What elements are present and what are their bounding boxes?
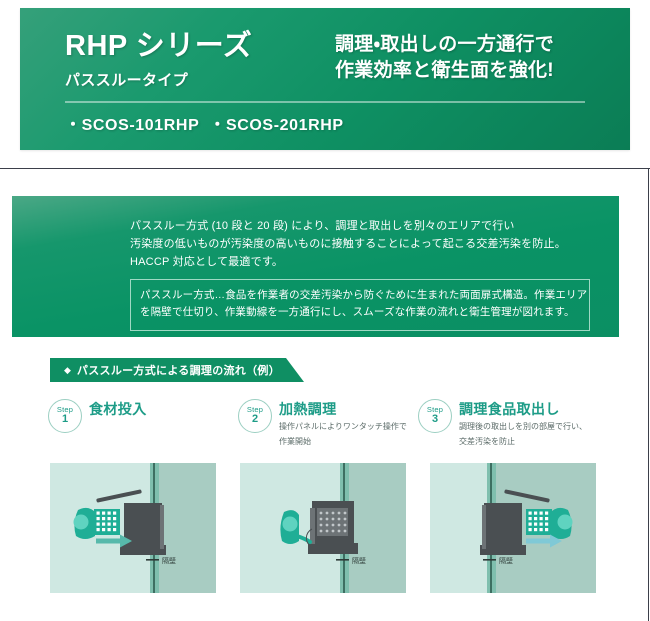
hero-banner: RHP シリーズ パススルータイプ 調理・取出しの一方通行で 作業効率と衛生面を… (20, 8, 630, 150)
step-title-2: 加熱調理 (279, 401, 407, 418)
step-desc-3-line-1: 調理後の取出しを別の部屋で行い、 (459, 421, 587, 433)
catchcopy-line-2: 作業効率と衛生面を強化! (335, 58, 610, 84)
diamond-bullet-icon: ◆ (64, 366, 71, 375)
step-badge-number: 3 (432, 413, 438, 426)
step-desc-2-line-2: 作業開始 (279, 436, 407, 448)
catchcopy-line-1: 調理・取出しの一方通行で (335, 32, 610, 58)
step-badge-word: Step (427, 406, 443, 414)
model-list: ・SCOS-101RHP・SCOS-201RHP (65, 111, 344, 135)
page-subtitle: パススルータイプ (65, 69, 345, 90)
page-title: RHP シリーズ (65, 30, 345, 63)
description-note-line-1: パススルー方式…食品を作業者の交差汚染から防ぐために生まれた両面扉式構造。作業エ… (140, 287, 580, 304)
step-badge-word: Step (247, 406, 263, 414)
wall-label: 隔壁 (352, 556, 366, 565)
illustration-cooking-svg: 隔壁 (240, 463, 406, 593)
section-title: パススルー方式による調理の流れ（例） (77, 362, 280, 378)
step-badge-1: Step 1 (48, 399, 82, 433)
food-rack (526, 509, 552, 535)
step-text-1: 食材投入 (89, 398, 147, 421)
section-ribbon-body: ◆ パススルー方式による調理の流れ（例） (50, 358, 286, 382)
description-line-2: 汚染度の低いものが汚染度の高いものに接触することによって起こる交差汚染を防止。 (130, 236, 602, 254)
food-rack (94, 509, 120, 535)
hero-divider (65, 101, 585, 103)
step-text-2: 加熱調理 操作パネルによりワンタッチ操作で 作業開始 (279, 398, 407, 448)
step-item-3: Step 3 調理食品取出し 調理後の取出しを別の部屋で行い、 交差汚染を防止 (418, 398, 608, 448)
description-text: パススルー方式 (10 段と 20 段) により、調理と取出しを別々のエリアで行… (130, 218, 602, 271)
step-badge-word: Step (57, 406, 73, 414)
step-desc-3-line-2: 交差汚染を防止 (459, 436, 587, 448)
step-title-1: 食材投入 (89, 401, 147, 418)
description-panel: パススルー方式 (10 段と 20 段) により、調理と取出しを別々のエリアで行… (12, 196, 619, 337)
content-frame-right-border (648, 168, 649, 621)
illustration-panel-1: 隔壁 (50, 463, 216, 593)
wall-label: 隔壁 (499, 556, 513, 565)
illustration-panel-2: 隔壁 (240, 463, 406, 593)
illustration-loading-svg: 隔壁 (50, 463, 216, 593)
description-note-box: パススルー方式…食品を作業者の交差汚染から防ぐために生まれた両面扉式構造。作業エ… (130, 279, 590, 331)
content-frame-top-border (0, 168, 650, 169)
description-note-line-2: を隔壁で仕切り、作業動線を一方通行にし、スムーズな作業の流れと衛生管理が図れます… (140, 304, 580, 321)
hero-inner: RHP シリーズ パススルータイプ 調理・取出しの一方通行で 作業効率と衛生面を… (20, 8, 630, 150)
hero-catchcopy: 調理・取出しの一方通行で 作業効率と衛生面を強化! (335, 32, 610, 84)
step-text-3: 調理食品取出し 調理後の取出しを別の部屋で行い、 交差汚染を防止 (459, 398, 587, 448)
illustration-unloading-svg: 隔壁 (430, 463, 596, 593)
hero-left-block: RHP シリーズ パススルータイプ (65, 30, 345, 90)
description-line-3: HACCP 対応として最適です。 (130, 254, 602, 272)
step-item-2: Step 2 加熱調理 操作パネルによりワンタッチ操作で 作業開始 (238, 398, 428, 448)
step-list: Step 1 食材投入 Step 2 加熱調理 操作パネルによりワンタッチ操作で… (48, 398, 628, 454)
step-badge-number: 2 (252, 413, 258, 426)
step-item-1: Step 1 食材投入 (48, 398, 238, 433)
illustration-panel-list: 隔壁 (50, 463, 630, 593)
description-line-1: パススルー方式 (10 段と 20 段) により、調理と取出しを別々のエリアで行… (130, 218, 602, 236)
section-ribbon: ◆ パススルー方式による調理の流れ（例） (50, 358, 304, 382)
wall-label: 隔壁 (162, 556, 176, 565)
step-desc-2-line-1: 操作パネルによりワンタッチ操作で (279, 421, 407, 433)
step-badge-number: 1 (62, 413, 68, 426)
step-badge-2: Step 2 (238, 399, 272, 433)
illustration-panel-3: 隔壁 (430, 463, 596, 593)
model-number-1: ・SCOS-101RHP (65, 117, 199, 134)
step-badge-3: Step 3 (418, 399, 452, 433)
model-number-2: ・SCOS-201RHP (209, 117, 343, 134)
step-title-3: 調理食品取出し (459, 401, 587, 418)
section-ribbon-tail (286, 358, 304, 382)
